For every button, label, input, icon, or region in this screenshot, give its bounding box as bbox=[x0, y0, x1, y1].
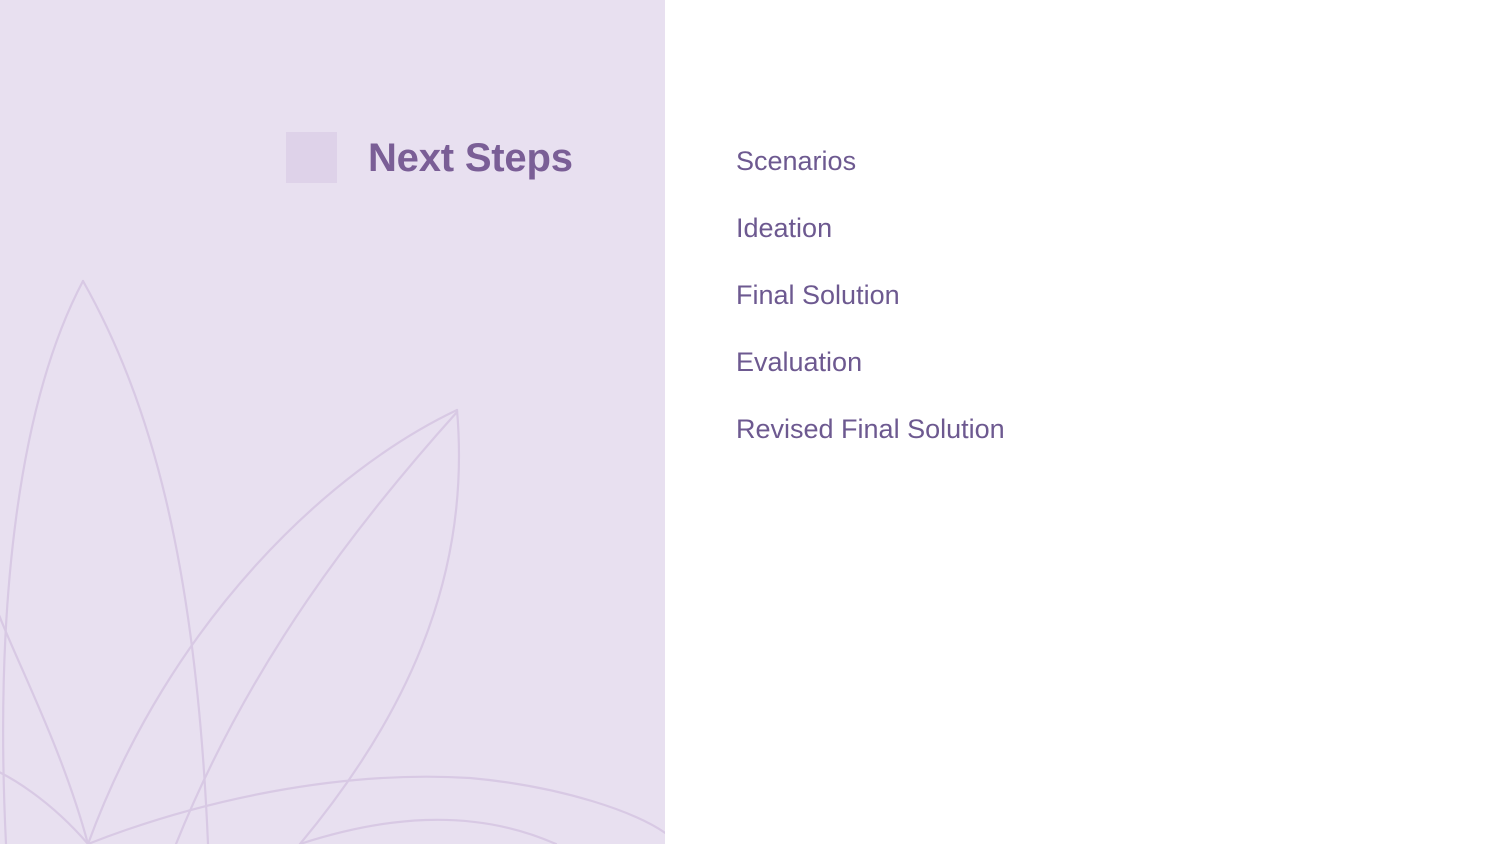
agenda-list: Scenarios Ideation Final Solution Evalua… bbox=[736, 148, 1436, 483]
list-item[interactable]: Revised Final Solution bbox=[736, 416, 1436, 483]
presentation-slide: Next Steps Scenarios Ideation Final Solu… bbox=[0, 0, 1500, 844]
title-accent-square-icon bbox=[286, 132, 337, 183]
page-title: Next Steps bbox=[368, 138, 573, 178]
list-item[interactable]: Final Solution bbox=[736, 282, 1436, 349]
lotus-leaf-decoration-icon bbox=[0, 0, 665, 844]
list-item[interactable]: Evaluation bbox=[736, 349, 1436, 416]
list-item[interactable]: Scenarios bbox=[736, 148, 1436, 215]
title-panel: Next Steps bbox=[0, 0, 665, 844]
slide-title-block: Next Steps bbox=[286, 132, 573, 183]
list-item[interactable]: Ideation bbox=[736, 215, 1436, 282]
